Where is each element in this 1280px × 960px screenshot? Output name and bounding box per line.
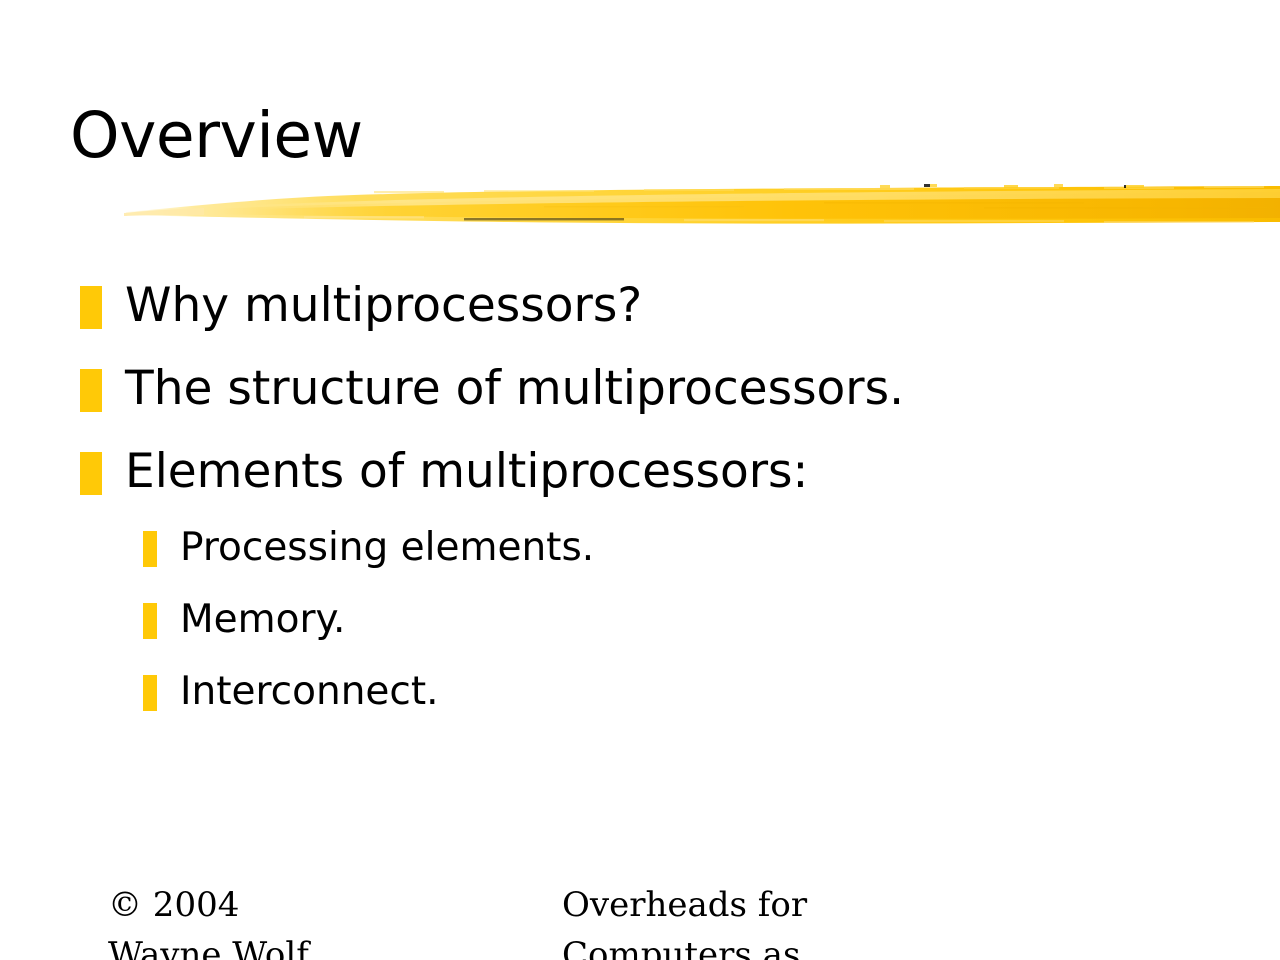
bullet-marker-icon bbox=[80, 452, 102, 495]
list-item-label: Memory. bbox=[180, 595, 345, 645]
list-item: Processing elements. bbox=[143, 523, 594, 573]
list-item: The structure of multiprocessors. bbox=[80, 360, 904, 418]
footer-copyright-line1: © 2004 bbox=[108, 880, 309, 930]
footer-source: Overheads for Computers as bbox=[562, 880, 807, 960]
list-item-label: Processing elements. bbox=[180, 523, 594, 573]
slide-footer: © 2004 Wayne Wolf Overheads for Computer… bbox=[0, 880, 1280, 960]
list-item-label: Why multiprocessors? bbox=[125, 277, 642, 335]
gold-brush-stroke-icon bbox=[124, 182, 1280, 238]
footer-copyright-line2: Wayne Wolf bbox=[108, 930, 309, 960]
sub-bullet-marker-icon bbox=[143, 675, 157, 711]
list-item: Interconnect. bbox=[143, 667, 439, 717]
slide-title: Overview bbox=[70, 104, 363, 167]
presentation-slide: Overview bbox=[0, 0, 1280, 960]
sub-bullet-marker-icon bbox=[143, 531, 157, 567]
list-item-label: Elements of multiprocessors: bbox=[125, 443, 808, 501]
list-item: Memory. bbox=[143, 595, 345, 645]
footer-source-line2: Computers as bbox=[562, 930, 807, 960]
footer-source-line1: Overheads for bbox=[562, 880, 807, 930]
list-item: Why multiprocessors? bbox=[80, 277, 642, 335]
bullet-marker-icon bbox=[80, 369, 102, 412]
list-item-label: The structure of multiprocessors. bbox=[125, 360, 904, 418]
footer-copyright: © 2004 Wayne Wolf bbox=[108, 880, 309, 960]
list-item: Elements of multiprocessors: bbox=[80, 443, 808, 501]
sub-bullet-marker-icon bbox=[143, 603, 157, 639]
bullet-marker-icon bbox=[80, 286, 102, 329]
list-item-label: Interconnect. bbox=[180, 667, 439, 717]
